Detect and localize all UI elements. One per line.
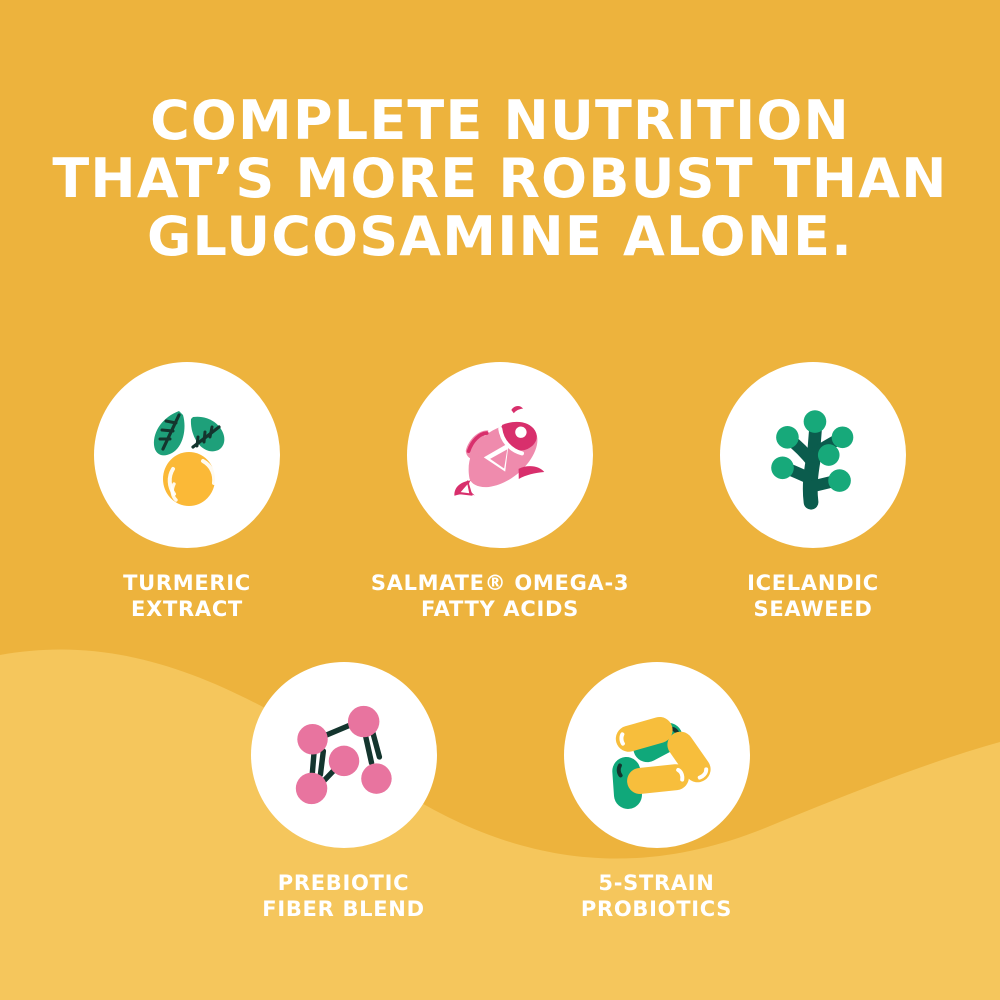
feature-label-turmeric: TURMERIC EXTRACT [123, 570, 251, 622]
headline-line-3: GLUCOSAMINE ALONE. [0, 208, 1000, 266]
capsules-icon [597, 695, 717, 815]
headline-line-1: COMPLETE NUTRITION [0, 92, 1000, 150]
feature-row-bottom: PREBIOTIC FIBER BLEND [0, 662, 1000, 922]
feature-prebiotic-fiber-blend[interactable]: PREBIOTIC FIBER BLEND [250, 662, 438, 922]
page-title: COMPLETE NUTRITION THAT’S MORE ROBUST TH… [0, 92, 1000, 266]
feature-label-seaweed: ICELANDIC SEAWEED [747, 570, 879, 622]
poster-canvas: COMPLETE NUTRITION THAT’S MORE ROBUST TH… [0, 0, 1000, 1000]
feature-icelandic-seaweed[interactable]: ICELANDIC SEAWEED [719, 362, 907, 622]
feature-5-strain-probiotics[interactable]: 5-STRAIN PROBIOTICS [563, 662, 751, 922]
seaweed-icon [754, 396, 872, 514]
feature-label-probiotics: 5-STRAIN PROBIOTICS [581, 870, 732, 922]
feature-salmate-omega-3[interactable]: SALMATE® OMEGA-3 FATTY ACIDS [406, 362, 594, 622]
molecule-icon [285, 696, 403, 814]
badge-circle-molecule [251, 662, 437, 848]
feature-turmeric-extract[interactable]: TURMERIC EXTRACT [93, 362, 281, 622]
badge-circle-salmon [407, 362, 593, 548]
feature-label-salmate: SALMATE® OMEGA-3 FATTY ACIDS [370, 570, 630, 622]
salmon-fish-icon [439, 394, 561, 516]
headline-line-2: THAT’S MORE ROBUST THAN [0, 150, 1000, 208]
badge-circle-capsules [564, 662, 750, 848]
feature-label-prebiotic: PREBIOTIC FIBER BLEND [262, 870, 424, 922]
turmeric-root-icon [127, 395, 247, 515]
badge-circle-seaweed [720, 362, 906, 548]
badge-circle-turmeric [94, 362, 280, 548]
feature-row-top: TURMERIC EXTRACT [0, 362, 1000, 622]
